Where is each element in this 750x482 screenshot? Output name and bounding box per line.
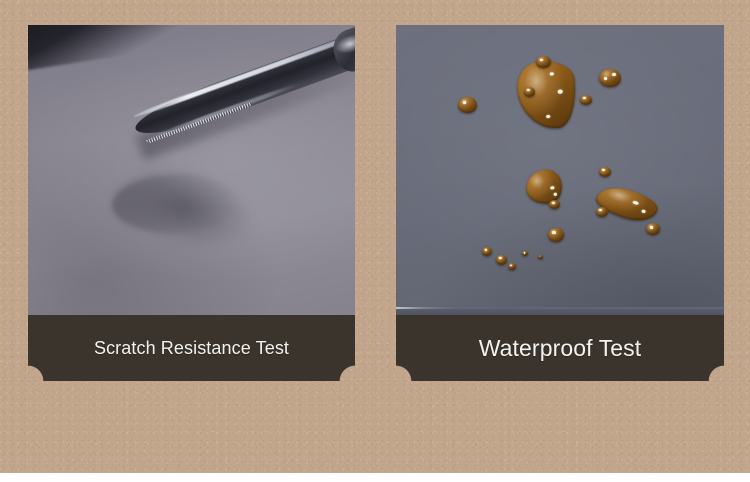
liquid-droplet (548, 228, 564, 242)
liquid-droplet (536, 56, 551, 68)
feature-card-waterproof[interactable]: Waterproof Test (396, 25, 724, 381)
liquid-droplet (596, 207, 608, 217)
caption-bar-scratch-resistance: Scratch Resistance Test (28, 315, 355, 381)
liquid-droplet (599, 167, 611, 177)
caption-label: Scratch Resistance Test (94, 338, 289, 359)
liquid-droplet (482, 247, 492, 256)
liquid-droplet (599, 69, 621, 87)
caption-label: Waterproof Test (479, 335, 642, 362)
corner-shadow (28, 25, 216, 70)
liquid-droplet (496, 255, 507, 265)
liquid-droplet (458, 97, 477, 113)
liquid-droplet (549, 200, 560, 209)
caption-bar-waterproof: Waterproof Test (396, 315, 724, 381)
liquid-droplet (508, 263, 516, 270)
bottom-white-strip (0, 473, 750, 482)
feature-card-scratch-resistance[interactable]: Scratch Resistance Test (28, 25, 355, 381)
photo-waterproof (396, 25, 724, 315)
liquid-droplet (524, 87, 535, 97)
liquid-droplet (580, 95, 592, 105)
product-feature-image: Scratch Resistance Test (0, 0, 750, 482)
liquid-droplet (522, 251, 528, 256)
photo-scratch-resistance (28, 25, 355, 315)
liquid-droplet (646, 223, 660, 235)
liquid-droplet (538, 255, 543, 259)
liquid-streak (593, 182, 660, 226)
